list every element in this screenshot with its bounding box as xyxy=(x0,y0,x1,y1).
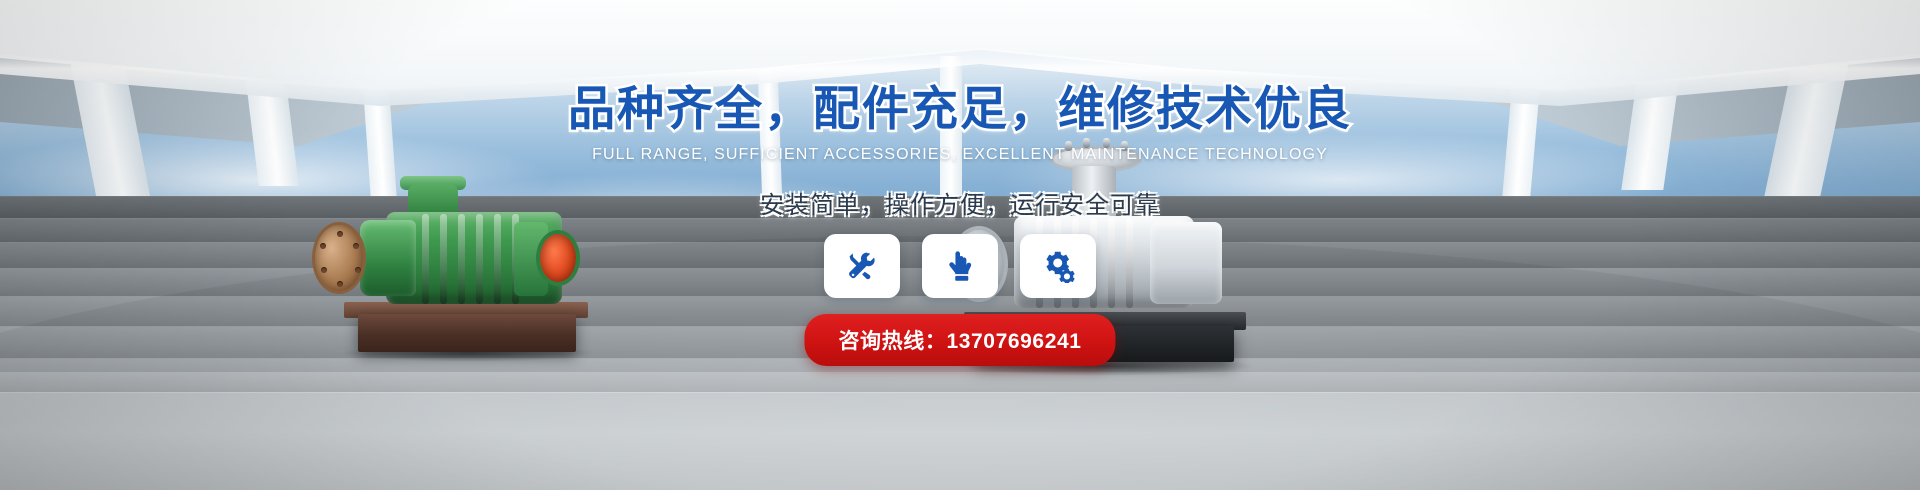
tools-wrench-screwdriver-icon xyxy=(845,249,879,283)
feature-card-maintenance[interactable] xyxy=(824,234,900,298)
feature-icon-row xyxy=(0,234,1920,298)
banner-subtitle-english: FULL RANGE, SUFFICIENT ACCESSORIES, EXCE… xyxy=(0,146,1920,164)
feature-card-sufficient-parts[interactable] xyxy=(1020,234,1096,298)
promotional-banner: 品种齐全，配件充足，维修技术优良 FULL RANGE, SUFFICIENT … xyxy=(0,0,1920,490)
banner-content: 品种齐全，配件充足，维修技术优良 FULL RANGE, SUFFICIENT … xyxy=(0,0,1920,490)
gears-icon xyxy=(1041,249,1075,283)
hand-pointer-icon xyxy=(944,249,976,283)
banner-headline: 品种齐全，配件充足，维修技术优良 xyxy=(0,70,1920,139)
feature-card-easy-operation[interactable] xyxy=(922,234,998,298)
hotline-button[interactable]: 咨询热线：13707696241 xyxy=(804,314,1115,366)
banner-tagline: 安装简单，操作方便，运行安全可靠 xyxy=(0,185,1920,220)
